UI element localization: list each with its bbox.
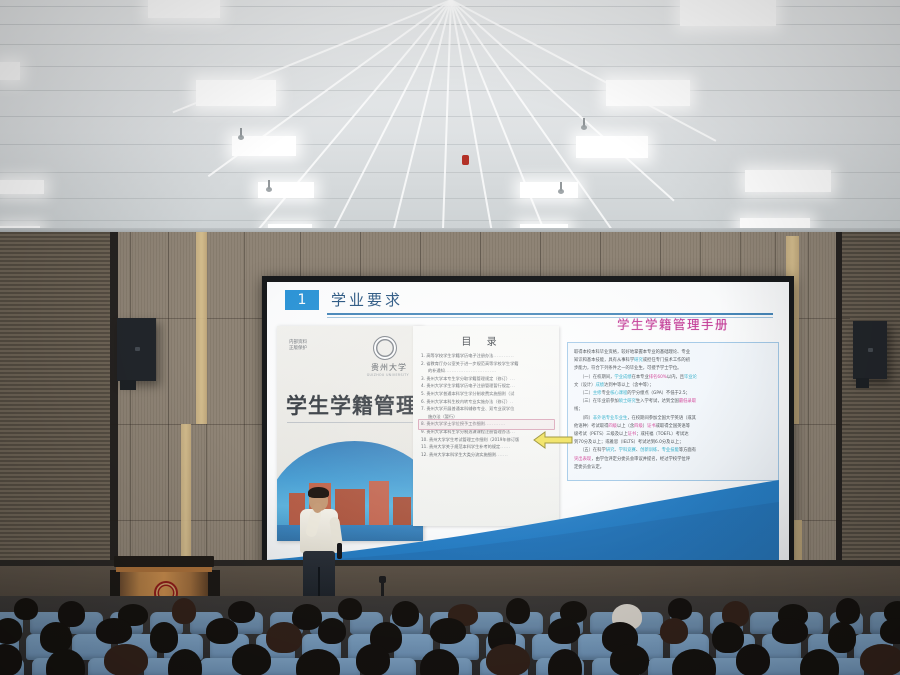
audience-head xyxy=(392,601,419,627)
audience-head xyxy=(828,622,856,653)
ceiling-rail xyxy=(314,0,452,238)
toc-item: 的补通知.............................. xyxy=(421,367,555,375)
audience-head xyxy=(232,644,271,675)
ceiling-light-panel xyxy=(0,180,44,194)
right-text-column: 学生学籍管理手册 取得本校本科毕业资格，较好地掌握本专业的基础理论、专业知识和基… xyxy=(567,314,779,481)
ceiling-tile-row xyxy=(0,66,900,67)
toc-item-label: 贵州大学本科生校内转专业实施办法（修订） xyxy=(426,399,510,404)
wall-speaker-right xyxy=(853,321,887,379)
toc-leader-dots: ............ xyxy=(493,353,514,358)
podium-ledge xyxy=(116,567,212,572)
ceiling-light-panel xyxy=(196,80,276,106)
manual-text-line: （二）主修专业核心课程的学分绩点（GPA）不低于2.5； xyxy=(574,390,772,398)
book-stamp-text: 内部资料正版保护 xyxy=(289,340,307,352)
presenter-leg-split xyxy=(318,567,320,599)
book-rule xyxy=(287,422,413,423)
auditorium-photo: 1 学业要求 内部资料正版保护 贵州大学 GUIZHOU UNIVERSITY … xyxy=(0,0,900,675)
wall-accent-stripe xyxy=(196,232,207,424)
toc-leader-dots: ...... xyxy=(500,444,510,449)
toc-highlight-box xyxy=(418,419,555,430)
presenter-hand xyxy=(313,503,322,513)
toc-item-label: 贵州大学本科学生大类分流实施细则 xyxy=(429,452,496,457)
ceiling-hook xyxy=(268,180,270,189)
toc-item: 5. 贵州大学普通本科学生学分制收费实施细则（试 xyxy=(421,390,555,398)
toc-item-label: 贵州大学本专生学分取学籍管理规定（修订） xyxy=(426,376,510,381)
audience-head xyxy=(338,598,362,620)
wall-accent-stripe xyxy=(181,424,191,564)
manual-title: 学生学籍管理手册 xyxy=(567,314,779,333)
ceiling-tile-row xyxy=(0,144,900,145)
audience-head xyxy=(506,598,530,624)
manual-text-line: 取得本校本科毕业资格，较好地掌握本专业的基础理论、专业 xyxy=(574,349,772,357)
audience-head xyxy=(548,618,580,644)
manual-text-line: （一）在校期间，学业成绩在本专业排名60%以内，且毕业论 xyxy=(574,374,772,382)
toc-item-label: 施办法（暂行） xyxy=(428,414,457,419)
toc-item: 7. 贵州大学开展普通本科辅修专业、双专业双学位 xyxy=(421,405,555,413)
audience-head xyxy=(356,644,390,675)
ceiling-light-panel xyxy=(0,62,20,80)
audience-area xyxy=(0,596,900,675)
manual-text-line: 步能力，符合下列条件之一的毕业生，可授予学士学位。 xyxy=(574,365,772,373)
presenter-figure xyxy=(296,489,342,599)
ceiling-tile-row xyxy=(0,116,900,117)
fire-sprinkler-icon xyxy=(462,155,469,165)
university-emblem-icon xyxy=(373,336,397,360)
toc-item-number: 11. xyxy=(421,444,429,449)
toc-item-label: 贵州大学关于规范本科学生补考的规定 xyxy=(429,444,500,449)
ceiling-hook xyxy=(560,182,562,191)
podium-top xyxy=(114,556,214,567)
manual-text-line: 文（设计）成绩达到中等以上（含中等）； xyxy=(574,382,772,390)
manual-text-line: （三）在毕业前参加硕士研究生入学考试，达到全国最低录取 xyxy=(574,398,772,406)
manual-text-line: 到70分及以上；或雅思（IELTS）考试达到6.0分及以上； xyxy=(574,439,772,447)
speaker-bracket xyxy=(856,378,870,388)
manual-text-line: （五）在科学研究、学科竞赛、创新训练、专业技能等方面有 xyxy=(574,447,772,455)
ceiling-light-panel xyxy=(576,136,648,158)
slide-header: 1 学业要求 xyxy=(267,290,789,316)
slide-title: 学业要求 xyxy=(331,289,403,310)
audience-head xyxy=(14,598,38,620)
ceiling-light-panel xyxy=(520,182,578,198)
audience-head xyxy=(610,644,649,675)
audience-head xyxy=(318,618,346,644)
toc-item: 1. 高等学校学生学籍学历电子注册办法............ xyxy=(421,352,555,360)
toc-leader-dots: .............................. xyxy=(445,368,497,373)
toc-item: 3. 贵州大学本专生学分取学籍管理规定（修订）... xyxy=(421,375,555,383)
ceiling-light-panel xyxy=(148,0,220,18)
ceiling-tile-row xyxy=(0,198,900,199)
slide-number-badge: 1 xyxy=(285,290,319,310)
toc-leader-dots: ... xyxy=(510,383,515,388)
audience-head xyxy=(860,644,900,675)
audience-head xyxy=(228,601,255,623)
ceiling-light-panel xyxy=(606,80,690,106)
toc-item-label: 的补通知 xyxy=(428,368,445,373)
audience-head xyxy=(736,644,770,675)
audience-head xyxy=(172,598,196,624)
toc-item: 12. 贵州大学本科学生大类分流实施细则....... xyxy=(421,451,555,459)
yellow-arrow-annotation xyxy=(533,430,573,450)
book-cover-title: 学生学籍管理 xyxy=(286,390,418,420)
toc-item-number: 10. xyxy=(421,437,429,442)
ceiling-light-panel xyxy=(745,170,831,192)
ceiling-hook xyxy=(583,118,585,127)
manual-text-line: （四）非外语专业毕业生，在校期间参加全国大学英语（或其 xyxy=(574,415,772,423)
book-university-name-en: GUIZHOU UNIVERSITY xyxy=(367,373,409,377)
manual-text-line: 知识和基本技能，具有从事科学研究或担任专门技术工作的初 xyxy=(574,357,772,365)
ceiling-rail xyxy=(450,0,624,238)
toc-item-label: 省教育厅办公室关于进一步规范高等学校学生学籍 xyxy=(426,361,518,366)
toc-item-number: 12. xyxy=(421,452,429,457)
toc-heading: 目 录 xyxy=(413,333,551,348)
manual-text-line: 定委员会认定。 xyxy=(574,464,772,472)
audience-head xyxy=(712,622,744,653)
presenter-hair xyxy=(308,487,329,498)
presentation-slide: 1 学业要求 内部资料正版保护 贵州大学 GUIZHOU UNIVERSITY … xyxy=(267,282,789,564)
ceiling-tile-row xyxy=(0,90,900,91)
audience-head xyxy=(660,618,688,644)
toc-item-label: 贵州大学普通本科学生学分制收费实施细则（试 xyxy=(426,391,514,396)
ceiling xyxy=(0,0,900,238)
manual-body-box: 取得本校本科毕业资格，较好地掌握本专业的基础理论、专业知识和基本技能，具有从事科… xyxy=(567,342,779,481)
audience-head xyxy=(880,618,900,644)
audience-head xyxy=(486,644,530,675)
audience-head xyxy=(150,622,178,653)
audience-head xyxy=(668,598,692,620)
audience-head xyxy=(0,618,22,644)
speaker-bracket xyxy=(120,380,136,390)
toc-leader-dots: .. xyxy=(510,399,513,404)
toc-item-label: 高等学校学生学籍学历电子注册办法 xyxy=(426,353,493,358)
slide-wave-decoration xyxy=(267,472,779,564)
manual-text-line: 突出表现，由学位评定分委员会审议并提名，经过学校学位评 xyxy=(574,456,772,464)
toc-item: 6. 贵州大学本科生校内转专业实施办法（修订）.. xyxy=(421,398,555,406)
manual-text-line: 线； xyxy=(574,406,772,414)
toc-leader-dots: ....... xyxy=(496,452,508,457)
toc-item-label: 贵州大学学生考试管理工作细则（2019年修订版 xyxy=(429,437,519,442)
audience-head xyxy=(96,618,132,644)
audience-head xyxy=(672,649,716,675)
toc-item-label: 贵州大学开展普通本科辅修专业、双专业双学位 xyxy=(426,406,514,411)
toc-item-label: 贵州大学学生学籍学历电子注册管理暂行规定 xyxy=(426,383,510,388)
audience-head xyxy=(104,644,148,675)
ceiling-hook xyxy=(240,128,242,137)
book-university-name: 贵州大学 xyxy=(371,362,407,373)
audience-head xyxy=(206,618,238,644)
audience-head xyxy=(772,618,808,644)
wall-speaker-left xyxy=(117,318,156,381)
audience-head xyxy=(548,649,582,675)
microphone-icon xyxy=(337,543,342,559)
manual-text-line: 他语种）考试取得四级以上（含四级）证书或取得全国英语等 xyxy=(574,423,772,431)
audience-head xyxy=(266,622,302,653)
ceiling-light-panel xyxy=(680,0,776,26)
toc-leader-dots: ... xyxy=(510,376,515,381)
audience-head xyxy=(430,618,466,644)
ceiling-rail xyxy=(450,0,564,238)
toc-item: 2. 省教育厅办公室关于进一步规范高等学校学生学籍 xyxy=(421,360,555,368)
audience-head xyxy=(836,598,860,624)
toc-item: 4. 贵州大学学生学籍学历电子注册管理暂行规定... xyxy=(421,382,555,390)
manual-text-line: 级考试（PETS）三级及以上证书；或托福（TOEFL）考试达 xyxy=(574,431,772,439)
